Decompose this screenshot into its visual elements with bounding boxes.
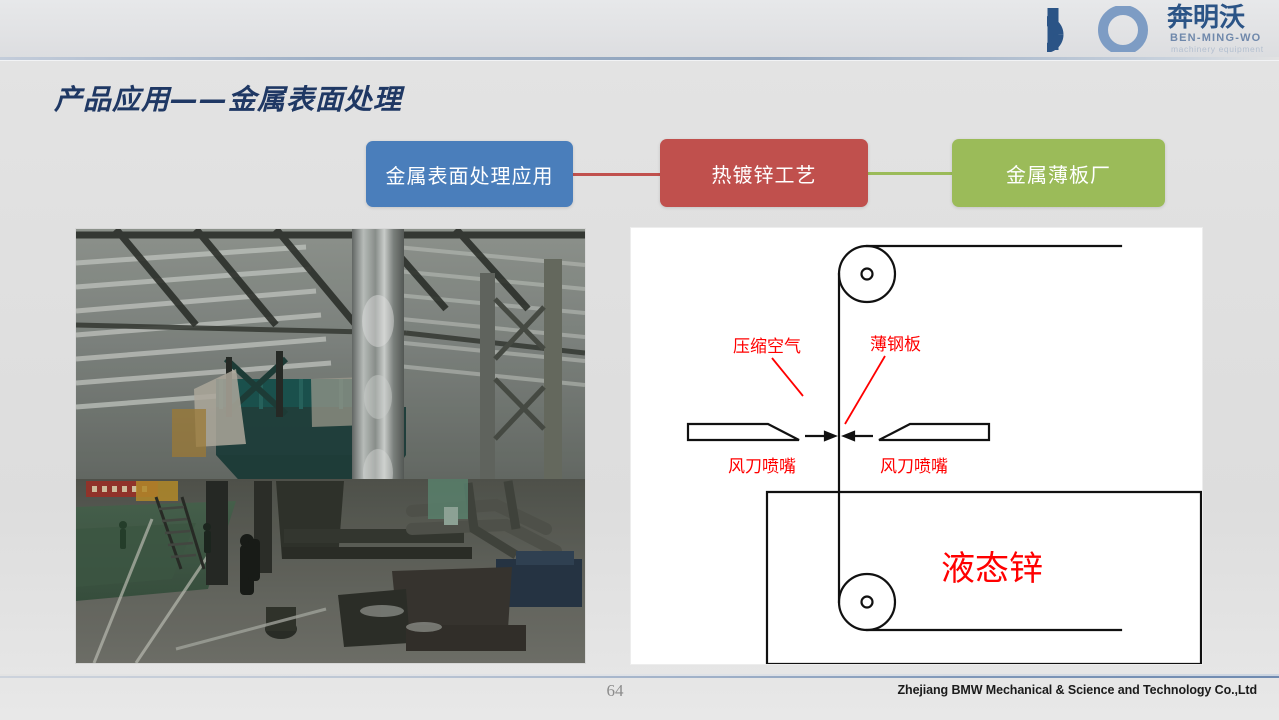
label-compressed-air: 压缩空气 [733,337,801,357]
company-footer-text: Zhejiang BMW Mechanical & Science and Te… [898,683,1258,697]
label-liquid-zinc: 液态锌 [941,549,1043,589]
factory-photo [76,229,585,663]
label-air-knife-left: 风刀喷嘴 [728,457,796,477]
air-knife-left-shape [688,424,799,440]
callout-leader-lines [772,356,885,424]
process-diagram: 薄钢板 压缩空气 风刀喷嘴 风刀喷嘴 液态锌 [631,228,1202,664]
footer-divider [0,676,1279,678]
flow-box-factory[interactable]: 金属薄板厂 [952,139,1165,207]
bottom-roller-hub-icon [862,597,873,608]
logo-pinyin: BEN-MING-WO [1170,32,1261,44]
factory-photo-image [76,229,585,663]
top-roller-hub-icon [862,269,873,280]
header-divider-highlight [0,60,1279,61]
page-title: 产品应用——金属表面处理 [54,78,402,118]
flow-connector-2 [868,172,953,175]
process-diagram-svg: 薄钢板 压缩空气 风刀喷嘴 风刀喷嘴 液态锌 [631,228,1202,664]
logo-tagline: machinery equipment [1171,44,1264,54]
air-knife-right-shape [879,424,989,440]
label-steel-strip: 薄钢板 [870,335,921,355]
company-logo: 奔明沃 BEN-MING-WO machinery equipment [1039,2,1271,56]
page-number: 64 [595,681,635,701]
flow-connector-1 [573,173,661,176]
top-roller-icon [839,246,895,302]
bottom-roller-icon [839,574,895,630]
slide-canvas: 奔明沃 BEN-MING-WO machinery equipment 产品应用… [0,0,1279,720]
logo-chinese-name: 奔明沃 [1167,3,1245,33]
flow-box-application[interactable]: 金属表面处理应用 [366,141,573,207]
flow-box-process[interactable]: 热镀锌工艺 [660,139,868,207]
label-air-knife-right: 风刀喷嘴 [880,457,948,477]
bo-monogram-icon [1047,6,1165,52]
